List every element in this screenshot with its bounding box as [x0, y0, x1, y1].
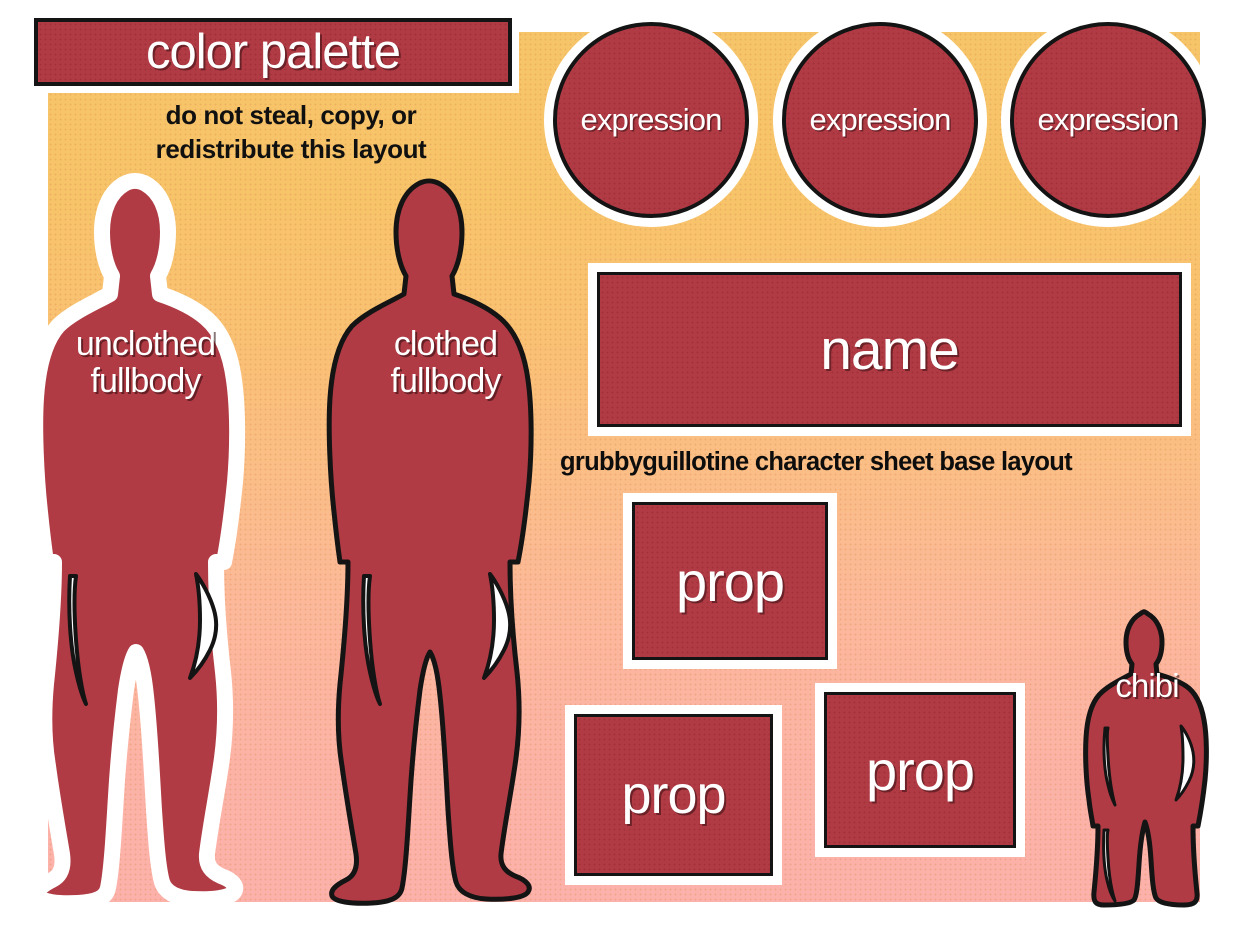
character-sheet-canvas: unclothed fullbody clothed fullbody colo…: [0, 0, 1252, 938]
figure-unclothed-fullbody[interactable]: [24, 176, 274, 906]
prop-label: prop: [676, 549, 784, 614]
prop-label: prop: [621, 764, 725, 826]
disclaimer-text: do not steal, copy, or redistribute this…: [86, 98, 496, 166]
figure-clothed-fullbody[interactable]: [318, 176, 568, 906]
disclaimer-line1: do not steal, copy, or: [166, 100, 417, 130]
name-label: name: [820, 317, 959, 383]
prop-slot-1[interactable]: prop: [632, 502, 828, 660]
standing-silhouette-icon: [318, 176, 568, 906]
name-slot[interactable]: name: [597, 272, 1182, 427]
expression-slot-2[interactable]: expression: [782, 22, 978, 218]
watermark-text: grubbyguillotine character sheet base la…: [560, 448, 1220, 477]
expression-slot-3[interactable]: expression: [1010, 22, 1206, 218]
disclaimer-line2: redistribute this layout: [156, 134, 427, 164]
expression-label: expression: [810, 102, 951, 138]
figure-chibi[interactable]: [1078, 608, 1228, 908]
prop-slot-2[interactable]: prop: [574, 714, 773, 876]
color-palette-banner[interactable]: color palette: [34, 18, 512, 86]
chibi-silhouette-icon: [1078, 608, 1228, 908]
expression-label: expression: [581, 102, 722, 138]
prop-label: prop: [866, 738, 974, 803]
expression-slot-1[interactable]: expression: [553, 22, 749, 218]
prop-slot-3[interactable]: prop: [824, 692, 1016, 848]
standing-silhouette-icon: [24, 176, 274, 906]
color-palette-label: color palette: [146, 28, 400, 77]
expression-label: expression: [1038, 102, 1179, 138]
